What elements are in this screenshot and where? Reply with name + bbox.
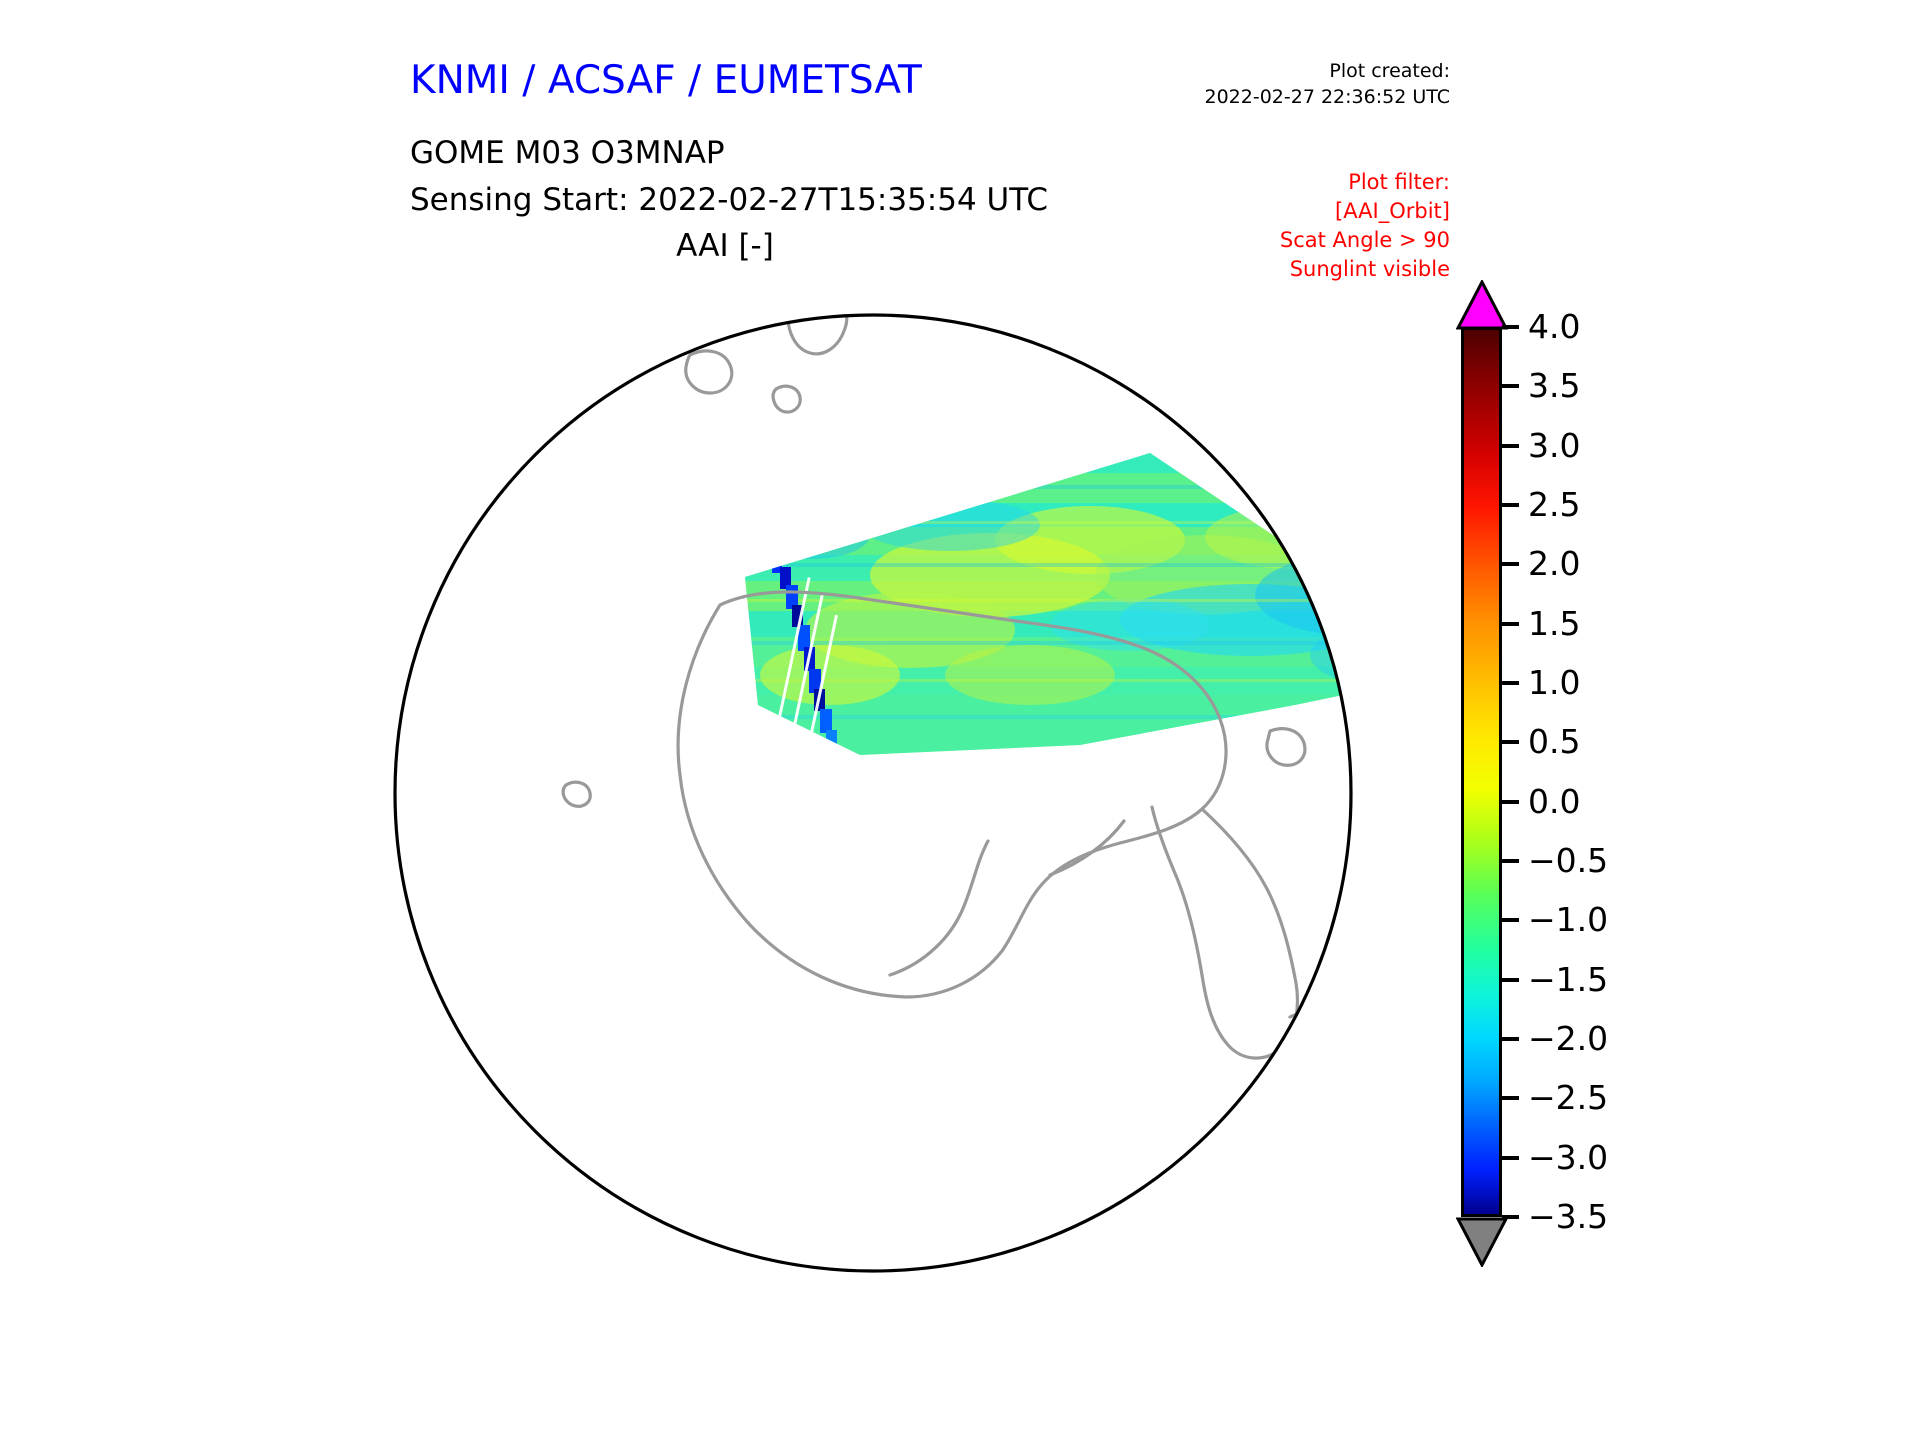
colorbar-tick-label: 3.5 xyxy=(1528,369,1580,402)
organization-title: KNMI / ACSAF / EUMETSAT xyxy=(410,58,922,103)
colorbar-tick-mark xyxy=(1502,444,1519,448)
colorbar-tick-mark xyxy=(1502,800,1519,804)
colorbar-tick-label: 4.0 xyxy=(1528,310,1580,343)
plot-created-block: Plot created: 2022-02-27 22:36:52 UTC xyxy=(1120,58,1450,110)
colorbar-tick-label: −0.5 xyxy=(1528,844,1608,877)
colorbar-tick-mark xyxy=(1502,1037,1519,1041)
colorbar-tick-label: 2.5 xyxy=(1528,488,1580,521)
colorbar-tick-label: −2.0 xyxy=(1528,1022,1608,1055)
colorbar-tick-mark xyxy=(1502,325,1519,329)
polar-stereographic-map xyxy=(390,275,1420,1345)
colorbar-tick-mark xyxy=(1502,384,1519,388)
colorbar-tick-mark xyxy=(1502,1096,1519,1100)
sensing-start-label: Sensing Start: 2022-02-27T15:35:54 UTC xyxy=(410,182,1048,218)
colorbar-tick-label: −1.5 xyxy=(1528,963,1608,996)
colorbar-gradient xyxy=(1461,327,1502,1217)
globe-disc xyxy=(395,315,1351,1271)
colorbar-tick-mark xyxy=(1502,1215,1519,1219)
colorbar-tick-mark xyxy=(1502,859,1519,863)
plot-filter-line-1: [AAI_Orbit] xyxy=(1120,197,1450,226)
plot-filter-block: Plot filter: [AAI_Orbit] Scat Angle > 90… xyxy=(1120,168,1450,284)
colorbar-tick-label: 1.0 xyxy=(1528,666,1580,699)
colorbar-tick-mark xyxy=(1502,622,1519,626)
colorbar-tick-mark xyxy=(1502,1156,1519,1160)
colorbar-tick-label: 0.5 xyxy=(1528,725,1580,758)
colorbar-under-arrow-icon xyxy=(1456,1215,1508,1267)
colorbar-tick-mark xyxy=(1502,681,1519,685)
colorbar-tick-label: 2.0 xyxy=(1528,547,1580,580)
plot-created-label: Plot created: xyxy=(1120,58,1450,84)
plot-filter-line-2: Scat Angle > 90 xyxy=(1120,226,1450,255)
colorbar-tick-label: −3.5 xyxy=(1528,1200,1608,1233)
colorbar-tick-mark xyxy=(1502,503,1519,507)
colorbar-tick-label: −3.0 xyxy=(1528,1141,1608,1174)
colorbar-tick-label: 1.5 xyxy=(1528,607,1580,640)
colorbar-tick-label: −2.5 xyxy=(1528,1081,1608,1114)
colorbar-over-arrow-icon xyxy=(1456,280,1508,332)
dataset-title: GOME M03 O3MNAP xyxy=(410,135,725,171)
polar-map-panel xyxy=(390,275,1420,1345)
colorbar-tick-mark xyxy=(1502,562,1519,566)
colorbar-tick-label: −1.0 xyxy=(1528,903,1608,936)
colorbar: 4.03.53.02.52.01.51.00.50.0−0.5−1.0−1.5−… xyxy=(1448,280,1778,1310)
colorbar-tick-mark xyxy=(1502,918,1519,922)
colorbar-tick-mark xyxy=(1502,740,1519,744)
plot-filter-label: Plot filter: xyxy=(1120,168,1450,197)
colorbar-tick-label: 3.0 xyxy=(1528,429,1580,462)
colorbar-tick-mark xyxy=(1502,978,1519,982)
colorbar-tick-label: 0.0 xyxy=(1528,785,1580,818)
plot-created-timestamp: 2022-02-27 22:36:52 UTC xyxy=(1120,84,1450,110)
